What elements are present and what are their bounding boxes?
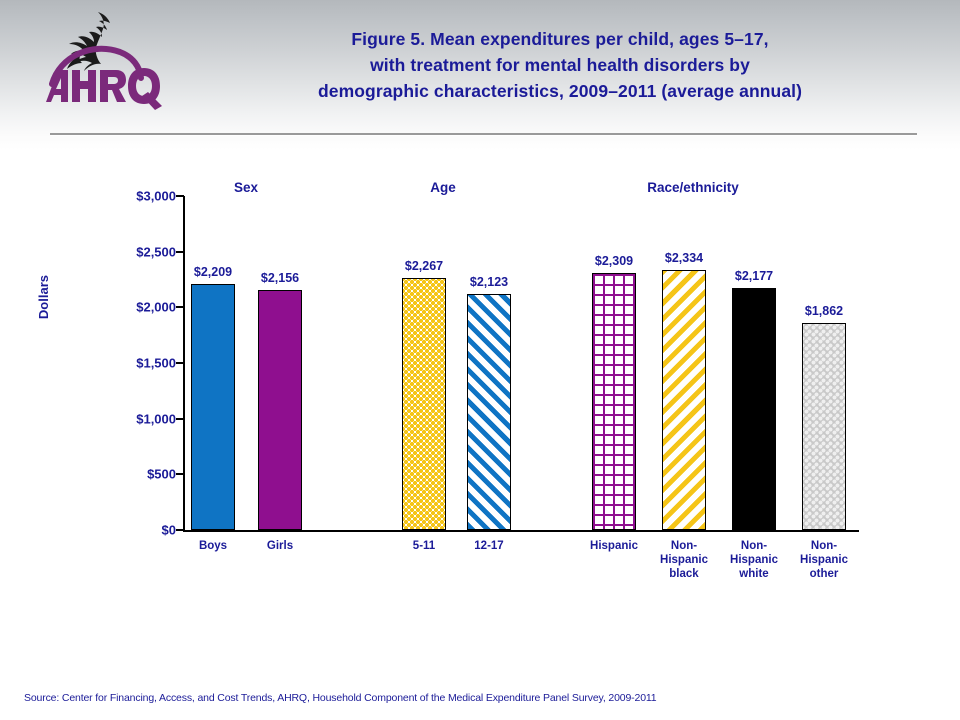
- category-label: 5-11: [413, 539, 435, 553]
- category-label: Girls: [267, 539, 293, 553]
- bar-value-label: $2,267: [405, 259, 443, 273]
- x-axis-line: [183, 530, 859, 532]
- category-label: Boys: [199, 539, 227, 553]
- y-tick-mark: [176, 362, 184, 364]
- y-tick-label: $500: [147, 467, 176, 482]
- source-note: Source: Center for Financing, Access, an…: [24, 692, 657, 704]
- bar[interactable]: [191, 284, 235, 530]
- bar[interactable]: [402, 278, 446, 530]
- bar-chart: Dollars $0$500$1,000$1,500$2,000$2,500$3…: [0, 0, 960, 720]
- y-tick-label: $0: [162, 523, 176, 538]
- y-tick-label: $1,000: [136, 411, 176, 426]
- y-axis-title: Dollars: [36, 275, 56, 319]
- bar[interactable]: [802, 323, 846, 530]
- y-tick-mark: [176, 529, 184, 531]
- y-tick-mark: [176, 195, 184, 197]
- bar-value-label: $2,156: [261, 271, 299, 285]
- bar-value-label: $1,862: [805, 304, 843, 318]
- group-header: Sex: [234, 180, 258, 195]
- category-label: Non- Hispanic black: [660, 539, 708, 581]
- y-tick-label: $3,000: [136, 189, 176, 204]
- bar[interactable]: [732, 288, 776, 530]
- group-header: Age: [430, 180, 456, 195]
- bar-value-label: $2,309: [595, 254, 633, 268]
- y-tick-label: $2,500: [136, 244, 176, 259]
- y-tick-mark: [176, 473, 184, 475]
- y-tick-label: $2,000: [136, 300, 176, 315]
- category-label: 12-17: [474, 539, 503, 553]
- bar[interactable]: [467, 294, 511, 530]
- y-tick-mark: [176, 251, 184, 253]
- group-header: Race/ethnicity: [647, 180, 739, 195]
- bar[interactable]: [258, 290, 302, 530]
- bar-value-label: $2,334: [665, 251, 703, 265]
- category-label: Non- Hispanic white: [730, 539, 778, 581]
- y-tick-mark: [176, 418, 184, 420]
- bar-value-label: $2,123: [470, 275, 508, 289]
- bar-value-label: $2,177: [735, 269, 773, 283]
- y-axis-line: [183, 196, 185, 532]
- y-tick-mark: [176, 306, 184, 308]
- bar-value-label: $2,209: [194, 265, 232, 279]
- bar[interactable]: [592, 273, 636, 530]
- y-axis-tick-labels: $0$500$1,000$1,500$2,000$2,500$3,000: [110, 0, 176, 720]
- category-label: Non- Hispanic other: [800, 539, 848, 581]
- y-tick-label: $1,500: [136, 356, 176, 371]
- category-label: Hispanic: [590, 539, 638, 553]
- bar[interactable]: [662, 270, 706, 530]
